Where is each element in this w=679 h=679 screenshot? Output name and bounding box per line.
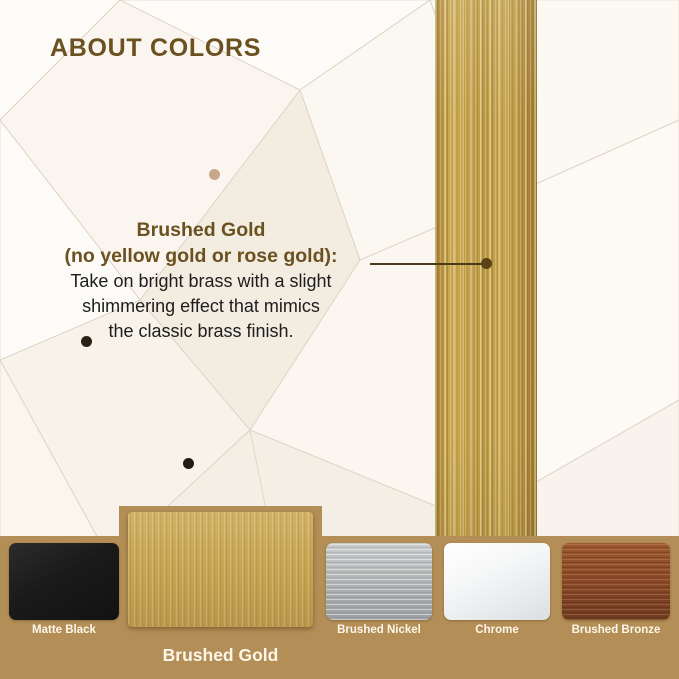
swatch-brushed-nickel[interactable] xyxy=(326,543,432,620)
callout-title-line1: Brushed Gold xyxy=(36,218,366,244)
swatch-brushed-bronze[interactable] xyxy=(562,543,670,620)
swatch-label-brushed-gold: Brushed Gold xyxy=(118,645,323,666)
swatch-matte-black[interactable] xyxy=(9,543,119,620)
callout-title-line2: (no yellow gold or rose gold): xyxy=(36,244,366,270)
callout-body-line3: the classic brass finish. xyxy=(36,320,366,344)
swatch-label-chrome: Chrome xyxy=(436,624,558,636)
decorative-dot-dark-lower xyxy=(183,458,194,469)
page-title: ABOUT COLORS xyxy=(50,34,261,63)
callout-leader-line xyxy=(370,263,488,265)
swatch-label-brushed-bronze: Brushed Bronze xyxy=(552,624,679,636)
swatch-label-brushed-nickel: Brushed Nickel xyxy=(318,624,440,636)
callout-leader-dot xyxy=(481,258,492,269)
callout-body-line1: Take on bright brass with a slight xyxy=(36,270,366,294)
callout-text-block: Brushed Gold (no yellow gold or rose gol… xyxy=(36,218,366,344)
swatch-label-matte-black: Matte Black xyxy=(0,624,128,636)
swatch-brushed-gold[interactable] xyxy=(128,512,313,627)
decorative-dot-tan xyxy=(209,169,220,180)
swatch-chrome[interactable] xyxy=(444,543,550,620)
about-colors-infographic: ABOUT COLORS Brushed Gold (no yellow gol… xyxy=(0,0,679,679)
callout-body-line2: shimmering effect that mimics xyxy=(36,295,366,319)
gold-sample-bar xyxy=(435,0,537,556)
